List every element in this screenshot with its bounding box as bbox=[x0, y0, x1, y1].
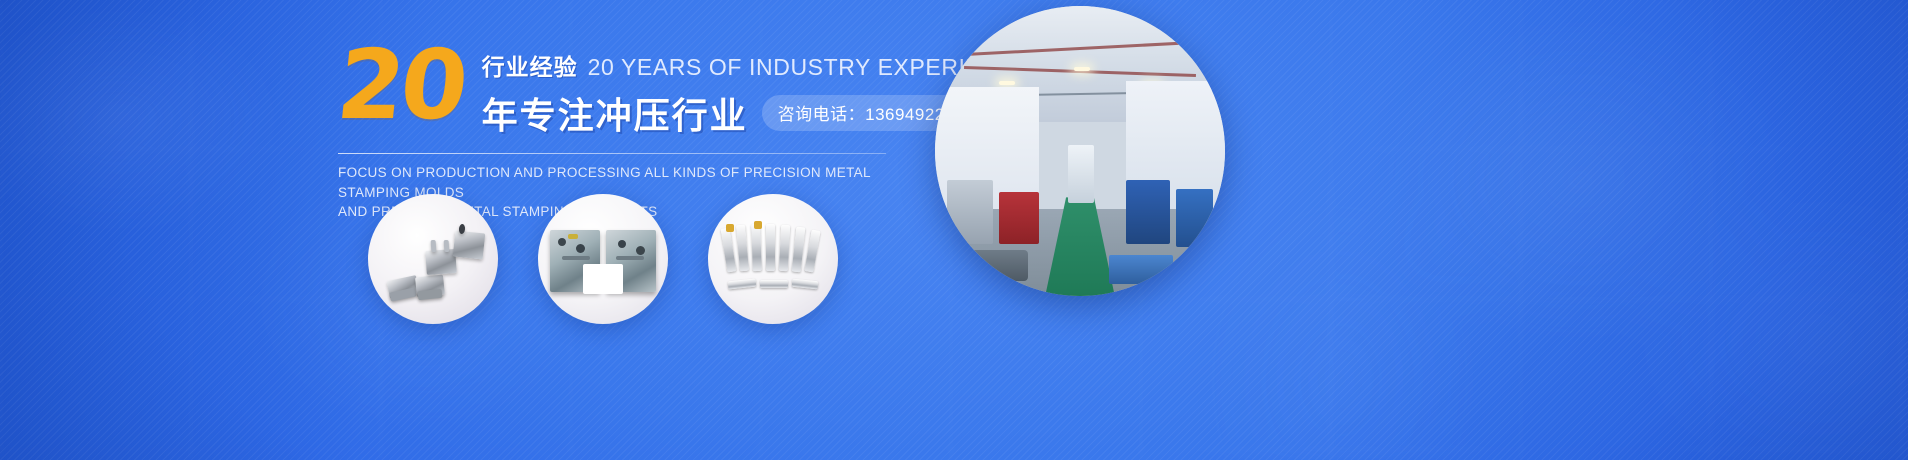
usb-part-b-base bbox=[418, 289, 443, 300]
pin-strip-3 bbox=[792, 279, 819, 290]
photo-machine-left-1 bbox=[947, 180, 993, 244]
photo-lamp-2 bbox=[1074, 67, 1090, 71]
photo-lamp-1 bbox=[999, 81, 1015, 85]
pin-5 bbox=[779, 225, 790, 271]
mold-marker bbox=[568, 234, 578, 239]
mold-rail-right bbox=[616, 256, 644, 260]
promo-banner: 20 行业经验 20 YEARS OF INDUSTRY EXPERIENCE … bbox=[0, 0, 1908, 460]
usb-part-c-tab2 bbox=[444, 240, 450, 252]
product-circle-terminal-pins bbox=[708, 194, 838, 324]
mold-cavity bbox=[583, 264, 623, 294]
mold-hole-3 bbox=[618, 240, 626, 248]
divider-rule bbox=[338, 153, 886, 154]
pin-strip-2 bbox=[760, 280, 788, 288]
photo-coil-stack bbox=[970, 250, 1028, 282]
product-circle-stamping-die-mold bbox=[538, 194, 668, 324]
mold-hole-1 bbox=[558, 238, 566, 246]
photo-pallet bbox=[1109, 255, 1173, 284]
pin-strip-1 bbox=[728, 279, 757, 290]
mold-hole-4 bbox=[636, 246, 645, 255]
pin-tip-gold-1 bbox=[726, 224, 734, 232]
photo-machine-blue-1 bbox=[1126, 180, 1170, 244]
pin-3 bbox=[751, 224, 762, 271]
pin-7 bbox=[804, 230, 820, 273]
pin-1 bbox=[721, 228, 737, 273]
factory-workshop-photo bbox=[935, 6, 1225, 296]
photo-machine-red bbox=[999, 192, 1040, 244]
photo-machine-blue-2 bbox=[1176, 189, 1214, 247]
pin-2 bbox=[736, 225, 749, 272]
product-circle-usb-connector-stampings bbox=[368, 194, 498, 324]
headline-cn-small: 行业经验 bbox=[482, 48, 578, 82]
pin-4 bbox=[766, 224, 775, 271]
usb-part-d bbox=[453, 231, 486, 260]
mold-rail-left bbox=[562, 256, 590, 260]
headline-cn-large: 年专注冲压行业 bbox=[482, 87, 748, 139]
headline-row: 20 行业经验 20 YEARS OF INDUSTRY EXPERIENCE … bbox=[338, 40, 898, 139]
years-number: 20 bbox=[334, 44, 468, 127]
pin-6 bbox=[792, 227, 806, 273]
usb-part-c-tab1 bbox=[431, 240, 437, 252]
pin-tip-gold-2 bbox=[754, 221, 762, 229]
photo-center-column bbox=[1068, 145, 1094, 203]
mold-hole-2 bbox=[576, 244, 585, 253]
